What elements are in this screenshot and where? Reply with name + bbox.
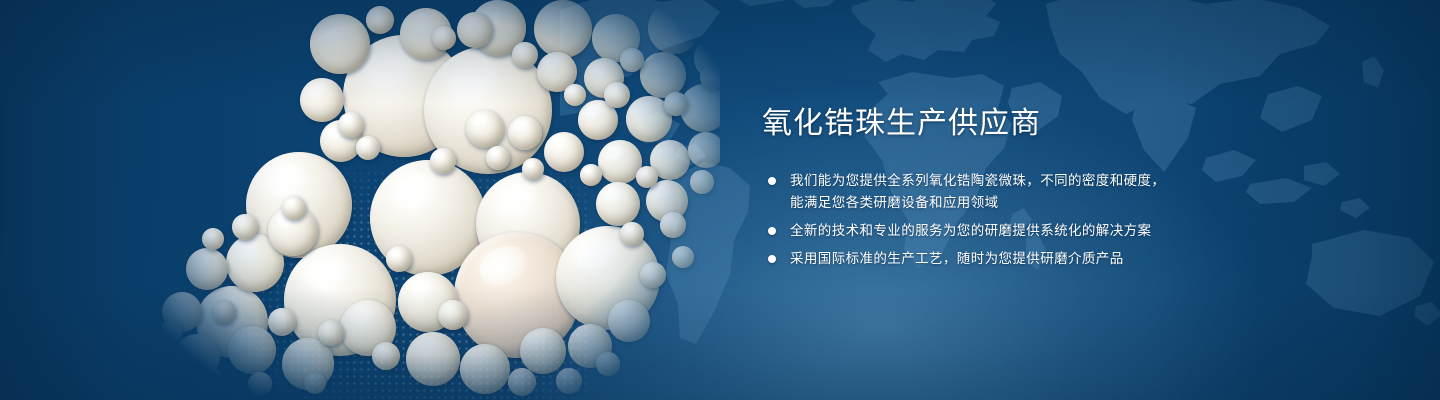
bullet-text: 全新的技术和专业的服务为您的研磨提供系统化的解决方案 [790, 220, 1262, 242]
bullet-dot-icon [768, 255, 776, 263]
bullet-line-1: 全新的技术和专业的服务为您的研磨提供系统化的解决方案 [790, 220, 1262, 242]
banner-copy: 氧化锆珠生产供应商 我们能为您提供全系列氧化锆陶瓷微珠，不同的密度和硬度， 能满… [762, 104, 1262, 270]
bullet-line-1: 我们能为您提供全系列氧化锆陶瓷微珠，不同的密度和硬度， [790, 170, 1262, 192]
list-item: 采用国际标准的生产工艺，随时为您提供研磨介质产品 [762, 248, 1262, 270]
bullet-dot-icon [768, 227, 776, 235]
page-title: 氧化锆珠生产供应商 [762, 104, 1262, 144]
bullet-text: 我们能为您提供全系列氧化锆陶瓷微珠，不同的密度和硬度， 能满足您各类研磨设备和应… [790, 170, 1262, 214]
bullet-line-2: 能满足您各类研磨设备和应用领域 [790, 192, 1262, 214]
bullet-text: 采用国际标准的生产工艺，随时为您提供研磨介质产品 [790, 248, 1262, 270]
hero-banner: 氧化锆珠生产供应商 我们能为您提供全系列氧化锆陶瓷微珠，不同的密度和硬度， 能满… [0, 0, 1440, 400]
bullet-line-1: 采用国际标准的生产工艺，随时为您提供研磨介质产品 [790, 248, 1262, 270]
bullet-dot-icon [768, 177, 776, 185]
list-item: 全新的技术和专业的服务为您的研磨提供系统化的解决方案 [762, 220, 1262, 242]
list-item: 我们能为您提供全系列氧化锆陶瓷微珠，不同的密度和硬度， 能满足您各类研磨设备和应… [762, 170, 1262, 214]
feature-bullet-list: 我们能为您提供全系列氧化锆陶瓷微珠，不同的密度和硬度， 能满足您各类研磨设备和应… [762, 170, 1262, 270]
